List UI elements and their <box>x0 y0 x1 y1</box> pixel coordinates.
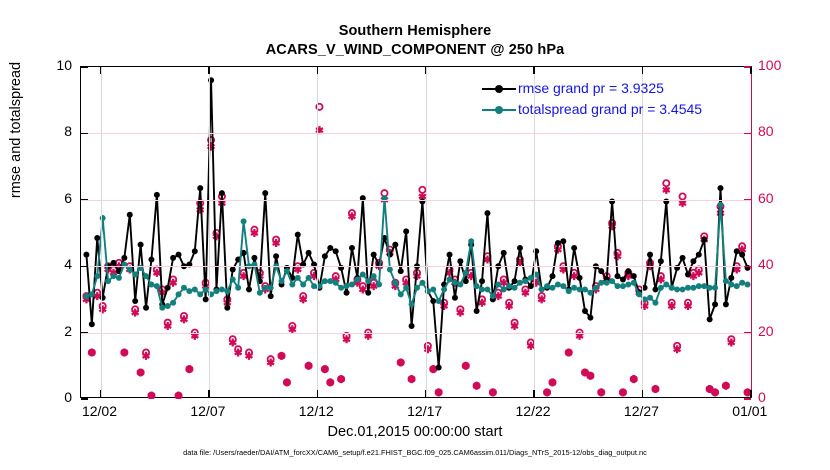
y-axis-label-left: rmse and totalspread <box>8 20 24 240</box>
bottom-axis-tick <box>533 390 534 397</box>
x-axis-tick-label: 12/12 <box>281 403 351 419</box>
top-axis-tick <box>750 67 751 74</box>
top-axis-tick <box>425 67 426 74</box>
bottom-axis-tick <box>208 390 209 397</box>
top-axis-tick <box>533 67 534 74</box>
top-axis-tick <box>208 67 209 74</box>
horizontal-gridline <box>81 200 751 201</box>
left-axis-tick-label: 2 <box>30 323 72 339</box>
left-axis-tick <box>81 66 88 67</box>
right-axis-tick <box>744 199 751 200</box>
data-file-footer: data file: /Users/raeder/DAI/ATM_forcXX/… <box>0 448 830 457</box>
vertical-gridline <box>426 67 427 397</box>
vertical-gridline <box>317 67 318 397</box>
right-axis-tick-label: 40 <box>758 256 804 272</box>
x-axis-tick-label: 12/07 <box>173 403 243 419</box>
bottom-axis-tick <box>750 390 751 397</box>
left-axis-tick <box>81 332 88 333</box>
x-axis-tick-label: 12/22 <box>498 403 568 419</box>
left-axis-tick-label: 6 <box>30 190 72 206</box>
x-axis-tick-label: 12/02 <box>65 403 135 419</box>
right-axis-tick <box>744 332 751 333</box>
title-line-2: ACARS_V_WIND_COMPONENT @ 250 hPa <box>0 41 830 60</box>
bottom-axis-tick <box>642 390 643 397</box>
vertical-gridline <box>101 67 102 397</box>
left-axis-tick <box>81 398 88 399</box>
title-line-1: Southern Hemisphere <box>0 22 830 41</box>
right-axis-tick <box>744 133 751 134</box>
chart-figure: Southern Hemisphere ACARS_V_WIND_COMPONE… <box>0 0 830 470</box>
vertical-gridline <box>642 67 643 397</box>
horizontal-gridline <box>81 133 751 134</box>
left-axis-tick-label: 4 <box>30 256 72 272</box>
gridlines <box>81 67 751 397</box>
left-axis-tick <box>81 133 88 134</box>
chart-title: Southern Hemisphere ACARS_V_WIND_COMPONE… <box>0 22 830 60</box>
vertical-gridline <box>209 67 210 397</box>
horizontal-gridline <box>81 333 751 334</box>
vertical-gridline <box>534 67 535 397</box>
x-axis-tick-label: 12/17 <box>390 403 460 419</box>
x-axis-tick-label: 12/27 <box>606 403 676 419</box>
top-axis-tick <box>100 67 101 74</box>
right-axis-tick-label: 60 <box>758 190 804 206</box>
x-axis-label: Dec.01,2015 00:00:00 start <box>0 424 830 440</box>
bottom-axis-tick <box>317 390 318 397</box>
plot-area <box>80 66 752 398</box>
left-axis-tick <box>81 266 88 267</box>
right-axis-tick <box>744 398 751 399</box>
top-axis-tick <box>642 67 643 74</box>
right-axis-tick-label: 100 <box>758 57 804 73</box>
bottom-axis-tick <box>425 390 426 397</box>
right-axis-tick-label: 80 <box>758 123 804 139</box>
bottom-axis-tick <box>100 390 101 397</box>
left-axis-tick-label: 10 <box>30 57 72 73</box>
y-axis-label-right: # of obs: o=possible; x=assimilated <box>806 0 821 30</box>
x-axis-tick-label: 01/01 <box>715 403 785 419</box>
left-axis-tick <box>81 199 88 200</box>
right-axis-tick <box>744 266 751 267</box>
left-axis-tick-label: 8 <box>30 123 72 139</box>
horizontal-gridline <box>81 266 751 267</box>
top-axis-tick <box>317 67 318 74</box>
right-axis-tick-label: 20 <box>758 323 804 339</box>
